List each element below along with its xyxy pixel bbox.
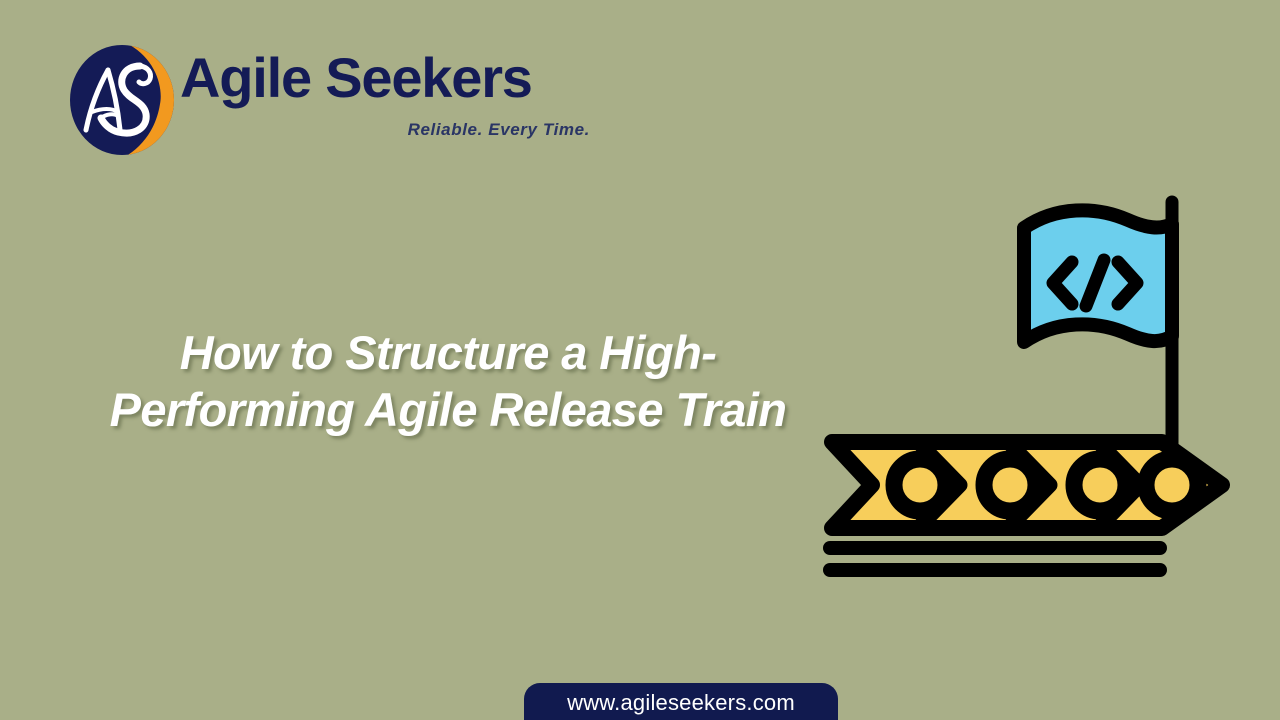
release-train-icon <box>830 442 1222 570</box>
blog-banner: Agile Seekers Reliable. Every Time. How … <box>0 0 1280 720</box>
brand-logo[interactable]: Agile Seekers Reliable. Every Time. <box>68 44 538 160</box>
agile-release-train-illustration <box>810 180 1250 580</box>
website-url-banner[interactable]: www.agileseekers.com <box>524 683 838 720</box>
page-title: How to Structure a High-Performing Agile… <box>108 324 788 438</box>
brand-tagline: Reliable. Every Time. <box>180 120 590 140</box>
code-flag-icon <box>1024 210 1172 342</box>
agile-seekers-monogram-icon <box>68 44 176 156</box>
brand-wordmark: Agile Seekers <box>180 50 600 106</box>
